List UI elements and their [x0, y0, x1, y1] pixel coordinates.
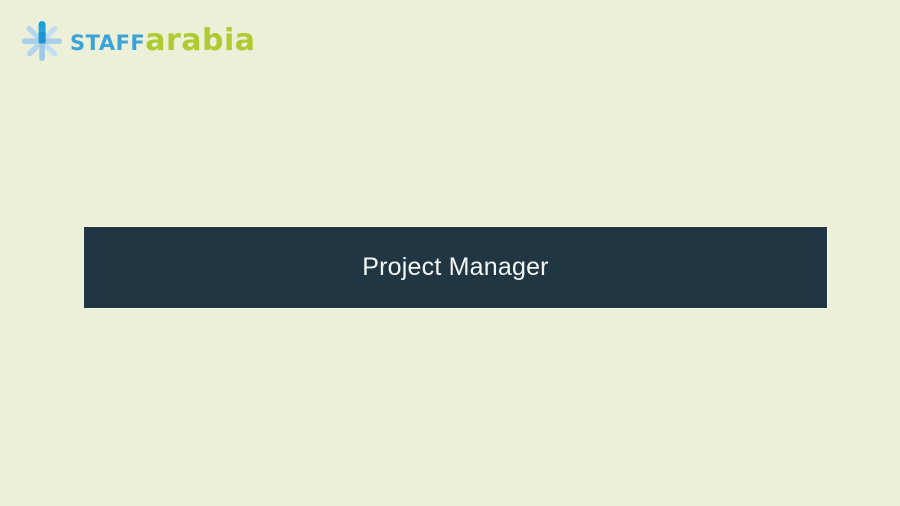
snowflake-icon-svg — [20, 19, 64, 63]
brand-word-arabia: arabia — [145, 26, 255, 56]
snowflake-asterisk-logo-icon — [20, 19, 64, 63]
brand-logo[interactable]: staffarabia — [20, 17, 256, 65]
page-title: Project Manager — [362, 253, 548, 282]
brand-wordmark: staffarabia — [70, 26, 256, 56]
brand-word-staff: staff — [70, 26, 145, 56]
title-banner: Project Manager — [84, 227, 827, 308]
slide-canvas: staffarabia Project Manager — [0, 0, 900, 506]
